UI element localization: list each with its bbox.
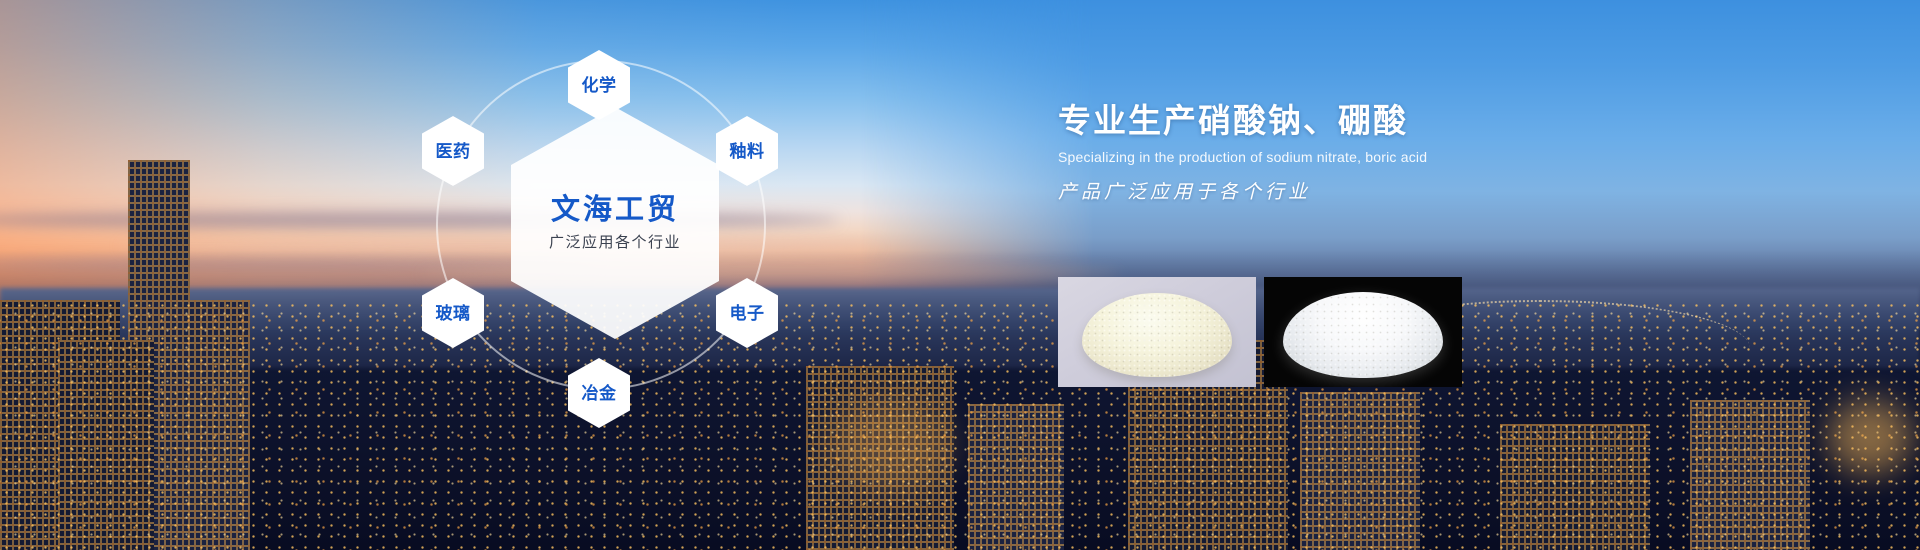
hex-node-label: 医药 [436,143,471,160]
hex-node-label: 电子 [730,305,765,322]
subheadline-english: Specializing in the production of sodium… [1058,148,1618,166]
industry-hexagon-diagram: 化学 釉料 电子 冶金 玻璃 医药 文海工贸 广泛应用各个行业 [430,24,800,444]
product-photo-group [1058,277,1462,387]
hero-banner: 化学 釉料 电子 冶金 玻璃 医药 文海工贸 广泛应用各个行业 专业生产硝酸钠、… [0,0,1920,550]
powder-pile [1283,292,1443,378]
hex-node-label: 玻璃 [436,305,471,322]
product-photo-sodium-nitrate [1058,277,1256,387]
background-photo [0,0,1920,550]
company-tagline: 广泛应用各个行业 [549,235,681,252]
tagline: 产品广泛应用于各个行业 [1058,182,1618,205]
powder-grain-texture [1082,293,1232,377]
light-glow [1828,400,1912,474]
hex-node-label: 冶金 [582,385,617,402]
headline: 专业生产硝酸钠、硼酸 [1058,100,1618,141]
hex-node-label: 化学 [582,77,617,94]
powder-grain-texture [1283,292,1443,378]
light-glow [830,400,950,490]
company-name: 文海工贸 [551,195,679,227]
powder-pile [1082,293,1232,377]
product-photo-boric-acid [1264,277,1462,387]
headline-block: 专业生产硝酸钠、硼酸 Specializing in the productio… [1058,100,1618,205]
hex-node-label: 釉料 [730,143,765,160]
